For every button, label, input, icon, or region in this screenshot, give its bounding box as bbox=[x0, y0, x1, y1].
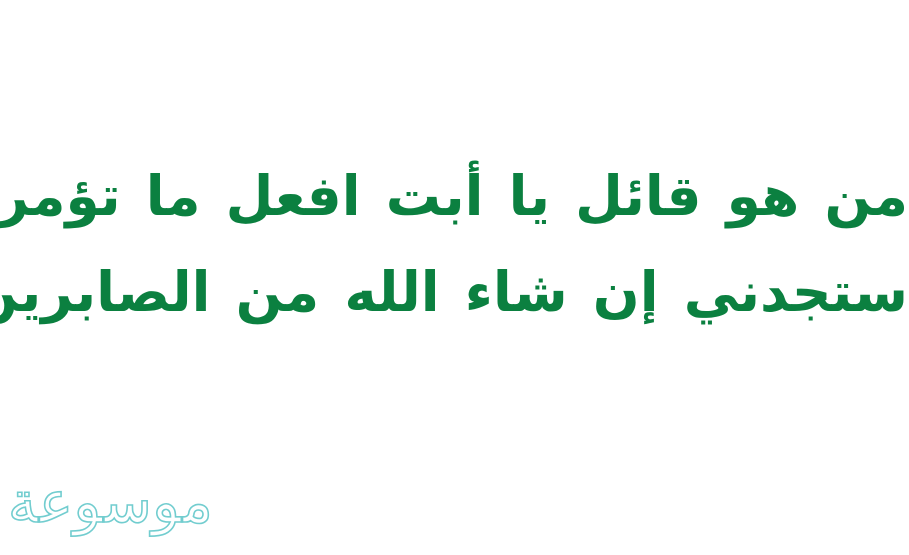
page-canvas: من هو قائل يا أبت افعل ما تؤمر ستجدني إن… bbox=[0, 0, 909, 555]
verse-text-block: من هو قائل يا أبت افعل ما تؤمر ستجدني إن… bbox=[0, 148, 909, 340]
site-watermark-logo: موسوعة bbox=[14, 462, 214, 542]
verse-line-2: ستجدني إن شاء الله من الصابرين bbox=[0, 244, 909, 340]
watermark-brand-text: موسوعة bbox=[9, 466, 214, 538]
verse-line-1: من هو قائل يا أبت افعل ما تؤمر bbox=[0, 148, 909, 244]
